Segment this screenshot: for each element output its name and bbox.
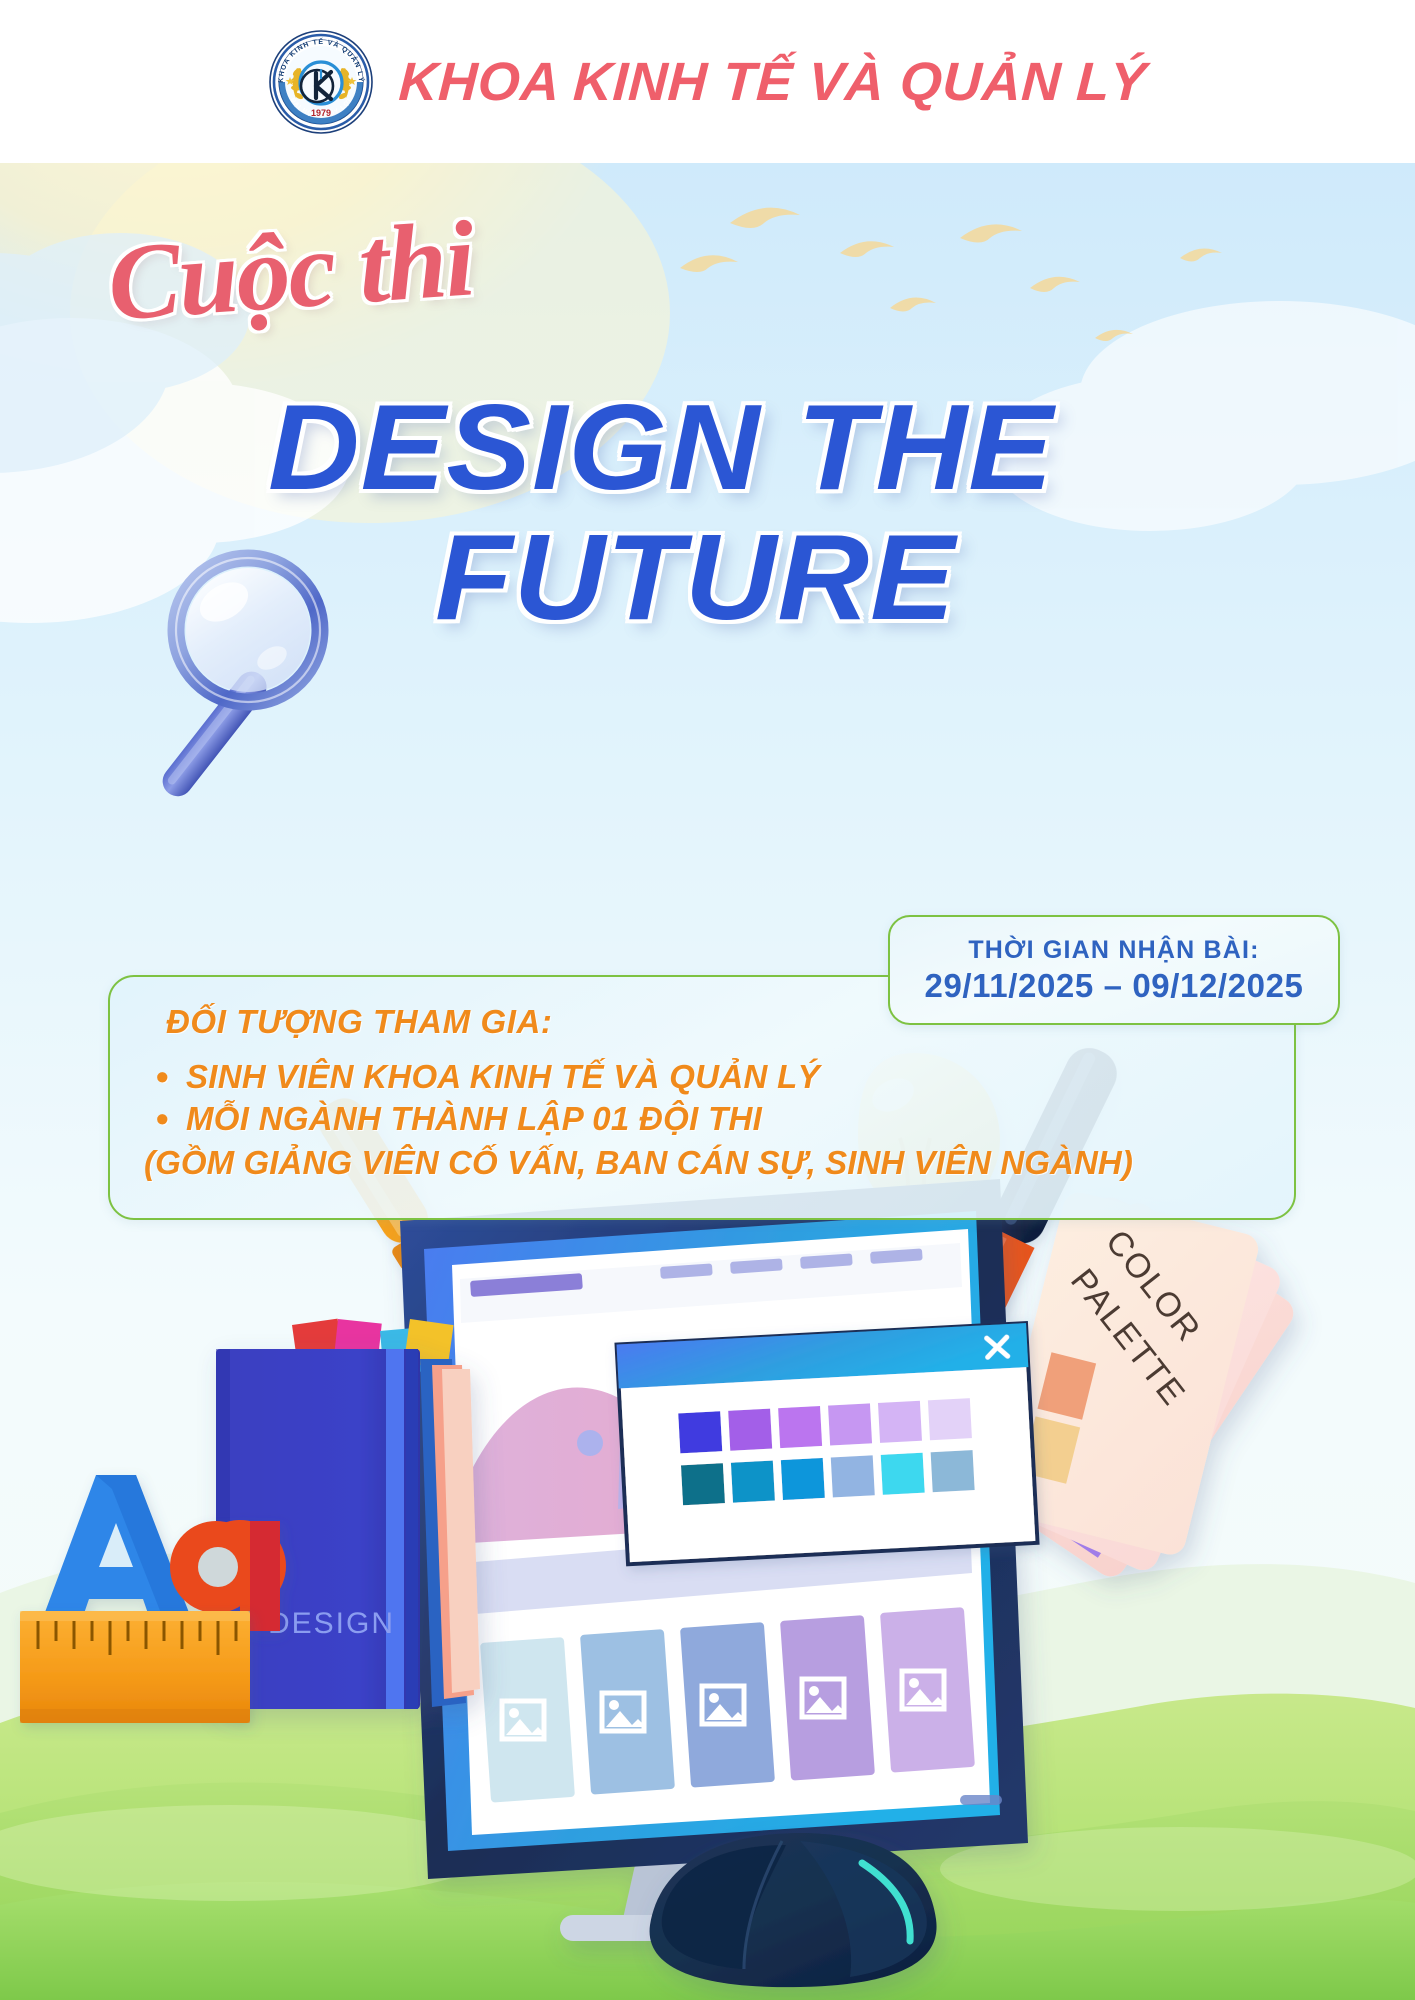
submission-date-badge: THỜI GIAN NHẬN BÀI: 29/11/2025 – 09/12/2…	[888, 915, 1340, 1025]
university-seal-logo: KHOA KINH TẾ VÀ QUẢN LÝ ĐẠI HỌC THỦY LỢI	[269, 30, 373, 134]
submission-date-label: THỜI GIAN NHẬN BÀI:	[968, 936, 1259, 965]
submission-date-range: 29/11/2025 – 09/12/2025	[925, 967, 1304, 1005]
poster-header: KHOA KINH TẾ VÀ QUẢN LÝ ĐẠI HỌC THỦY LỢI	[0, 0, 1415, 163]
audience-item-2: MỖI NGÀNH THÀNH LẬP 01 ĐỘI THI	[144, 1098, 1260, 1140]
audience-item-1: SINH VIÊN KHOA KINH TẾ VÀ QUẢN LÝ	[144, 1056, 1260, 1098]
notebook-label: DESIGN	[268, 1607, 395, 1640]
faculty-name: KHOA KINH TẾ VÀ QUẢN LÝ	[397, 55, 1147, 109]
poster-root: KHOA KINH TẾ VÀ QUẢN LÝ ĐẠI HỌC THỦY LỢI	[0, 0, 1415, 2000]
svg-text:1979: 1979	[311, 108, 331, 118]
color-picker-dialog	[617, 1323, 1038, 1564]
audience-list: SINH VIÊN KHOA KINH TẾ VÀ QUẢN LÝ MỖI NG…	[144, 1056, 1260, 1140]
ruler	[20, 1611, 250, 1723]
audience-note: (GỒM GIẢNG VIÊN CỐ VẤN, BAN CÁN SỰ, SINH…	[144, 1142, 1260, 1184]
poster-scene: Cuộc thi	[0, 163, 1415, 2000]
